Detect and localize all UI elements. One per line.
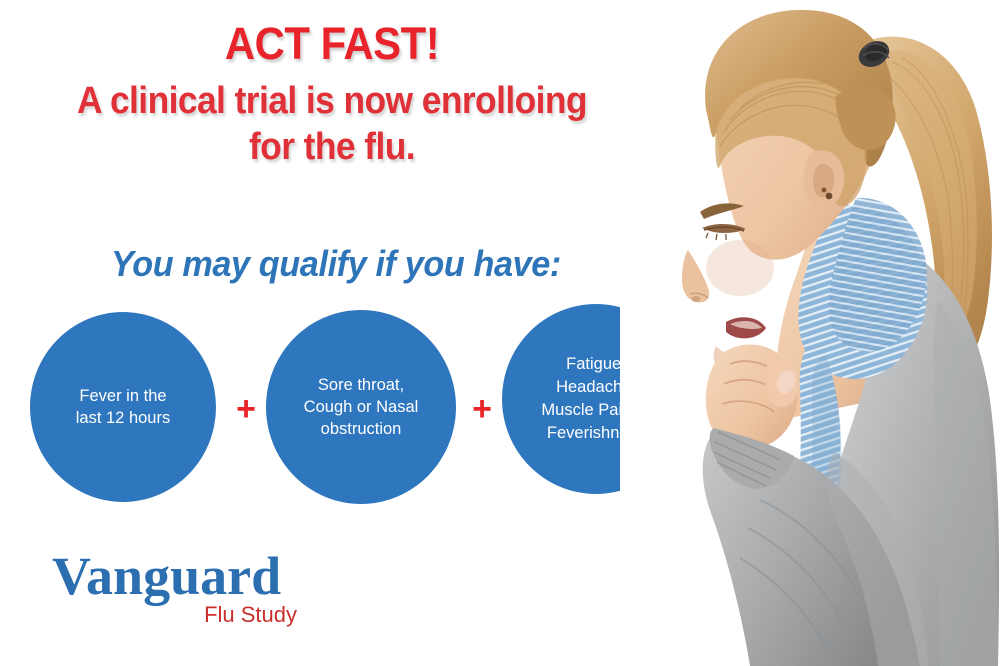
symptom-circles: Fever in the last 12 hours + Sore throat… [30, 312, 690, 507]
symptom-circle-respiratory: Sore throat, Cough or Nasal obstruction [266, 310, 456, 504]
qualify-heading: You may qualify if you have: [17, 243, 655, 285]
symptom-circle-fever: Fever in the last 12 hours [30, 312, 216, 502]
headline-subtext: A clinical trial is now enrolloing for t… [23, 78, 641, 170]
flu-study-poster: ACT FAST! A clinical trial is now enroll… [0, 0, 1000, 666]
headline-subtext-line-2: for the flu. [23, 124, 641, 170]
coughing-woman-photo [620, 0, 1000, 666]
symptom-line: last 12 hours [76, 407, 170, 429]
headline-block: ACT FAST! A clinical trial is now enroll… [0, 16, 664, 170]
headline-act-fast: ACT FAST! [23, 16, 641, 72]
symptom-circle-respiratory-text: Sore throat, Cough or Nasal obstruction [304, 374, 419, 440]
vanguard-logo: Vanguard Flu Study [52, 548, 352, 628]
plus-icon: + [467, 394, 497, 424]
symptom-line: obstruction [304, 418, 419, 440]
plus-icon: + [231, 394, 261, 424]
symptom-line: Cough or Nasal [304, 396, 419, 418]
headline-subtext-line-1: A clinical trial is now enrolloing [23, 78, 641, 124]
symptom-line: Fever in the [76, 385, 170, 407]
logo-wordmark: Vanguard [52, 548, 352, 604]
symptom-circle-fever-text: Fever in the last 12 hours [76, 385, 170, 429]
symptom-line: Sore throat, [304, 374, 419, 396]
